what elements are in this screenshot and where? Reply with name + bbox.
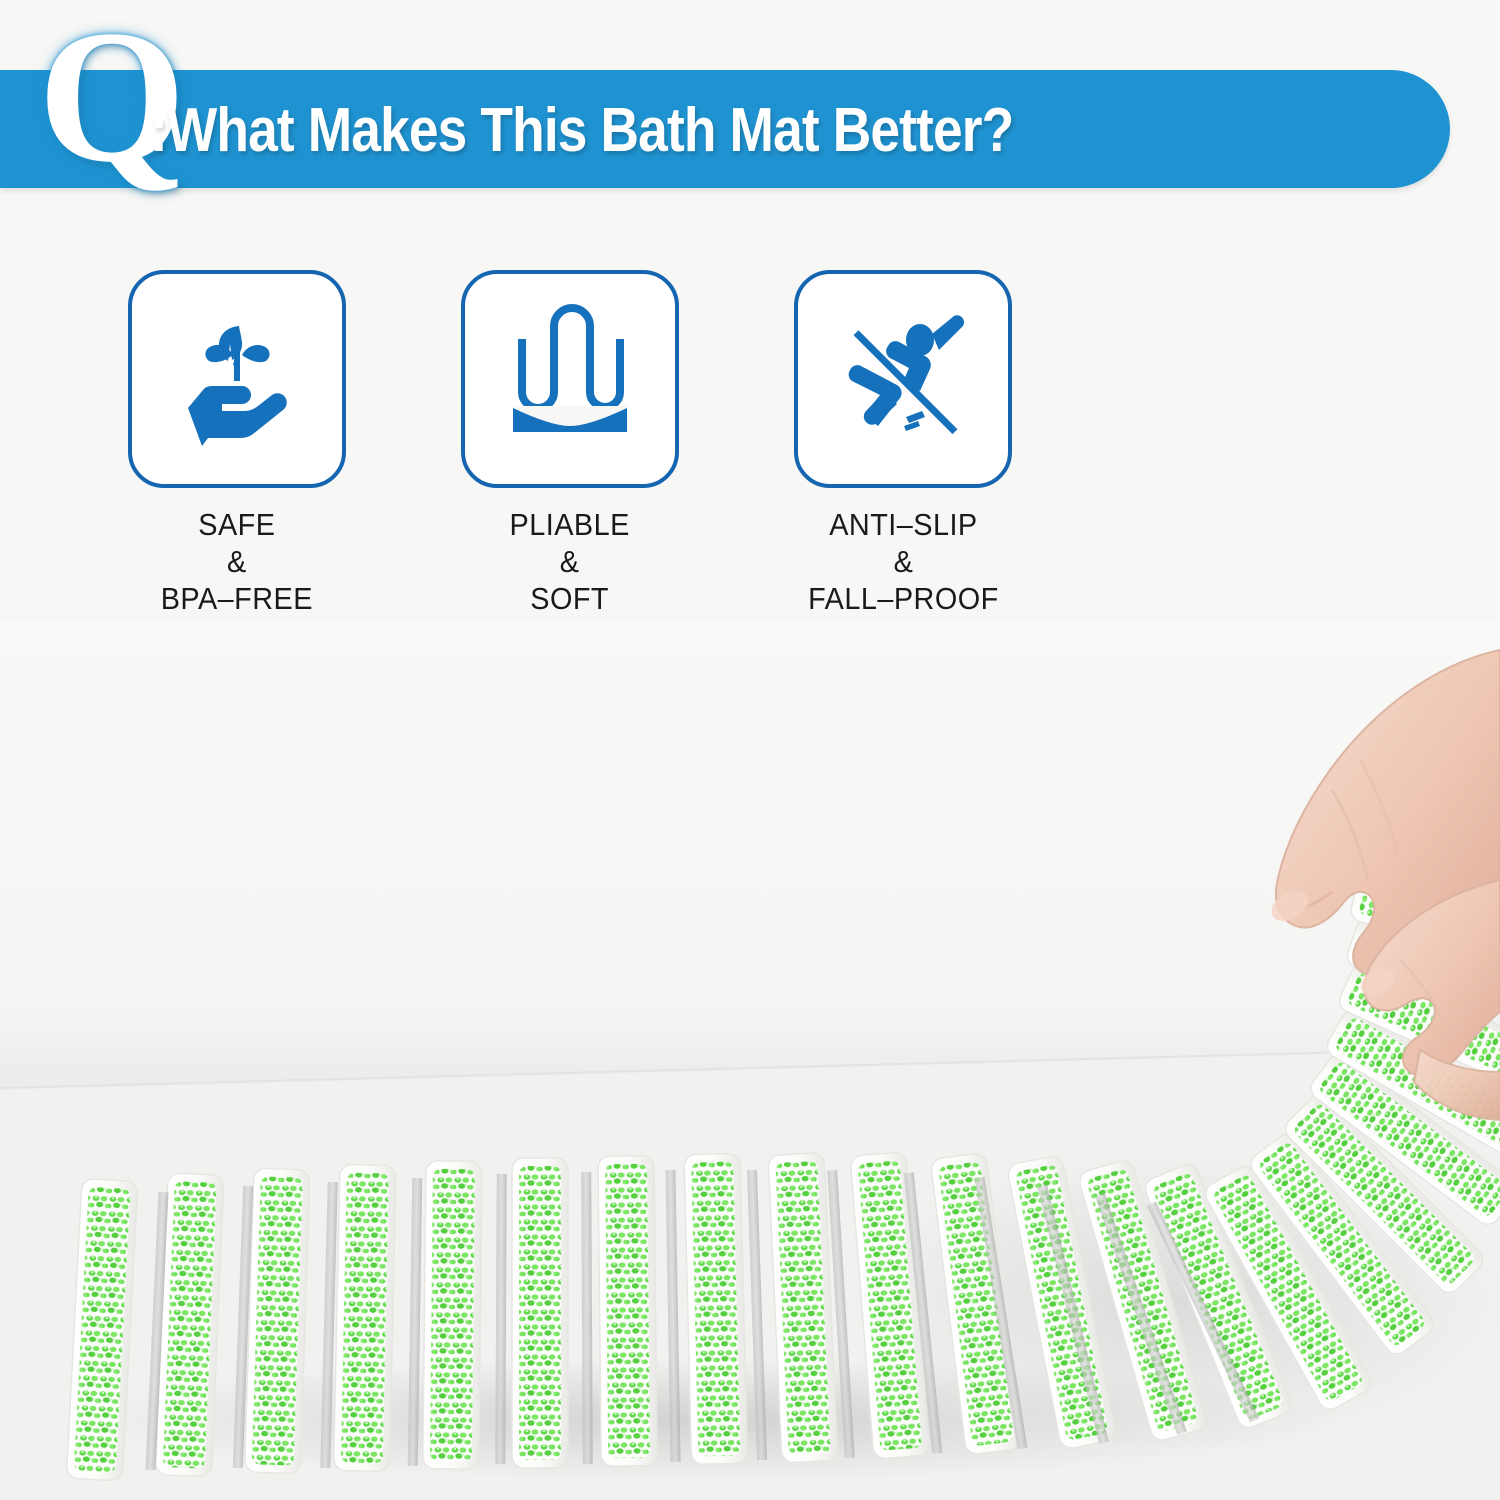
bending-flexible-mat-icon: [495, 304, 645, 454]
feature-item-safe-bpa-free[interactable]: SAFE & BPA–FREE: [70, 270, 403, 617]
feature-item-pliable-soft[interactable]: PLIABLE & SOFT: [403, 270, 736, 617]
hand-holding-plant-icon: [162, 304, 312, 454]
icon-box-pliable: [461, 270, 679, 488]
feature-row-top: SAFE & BPA–FREE PLIABLE & SOFT: [70, 270, 1070, 617]
product-photo: [0, 620, 1500, 1500]
feature-label: SAFE & BPA–FREE: [161, 506, 313, 617]
icon-box-safe: [128, 270, 346, 488]
bath-mat-product-image: [0, 620, 1500, 1500]
question-mark-q-letter: Q: [38, 22, 168, 192]
feature-label: PLIABLE & SOFT: [510, 506, 630, 617]
no-slipping-person-icon: [828, 304, 978, 454]
icon-box-anti-slip: [794, 270, 1012, 488]
feature-label: ANTI–SLIP & FALL–PROOF: [808, 506, 999, 617]
infographic-stage: Q :What Makes This Bath Mat Better?: [0, 0, 1500, 1500]
page-title: :What Makes This Bath Mat Better?: [150, 72, 1013, 188]
feature-item-anti-slip[interactable]: ANTI–SLIP & FALL–PROOF: [737, 270, 1070, 617]
